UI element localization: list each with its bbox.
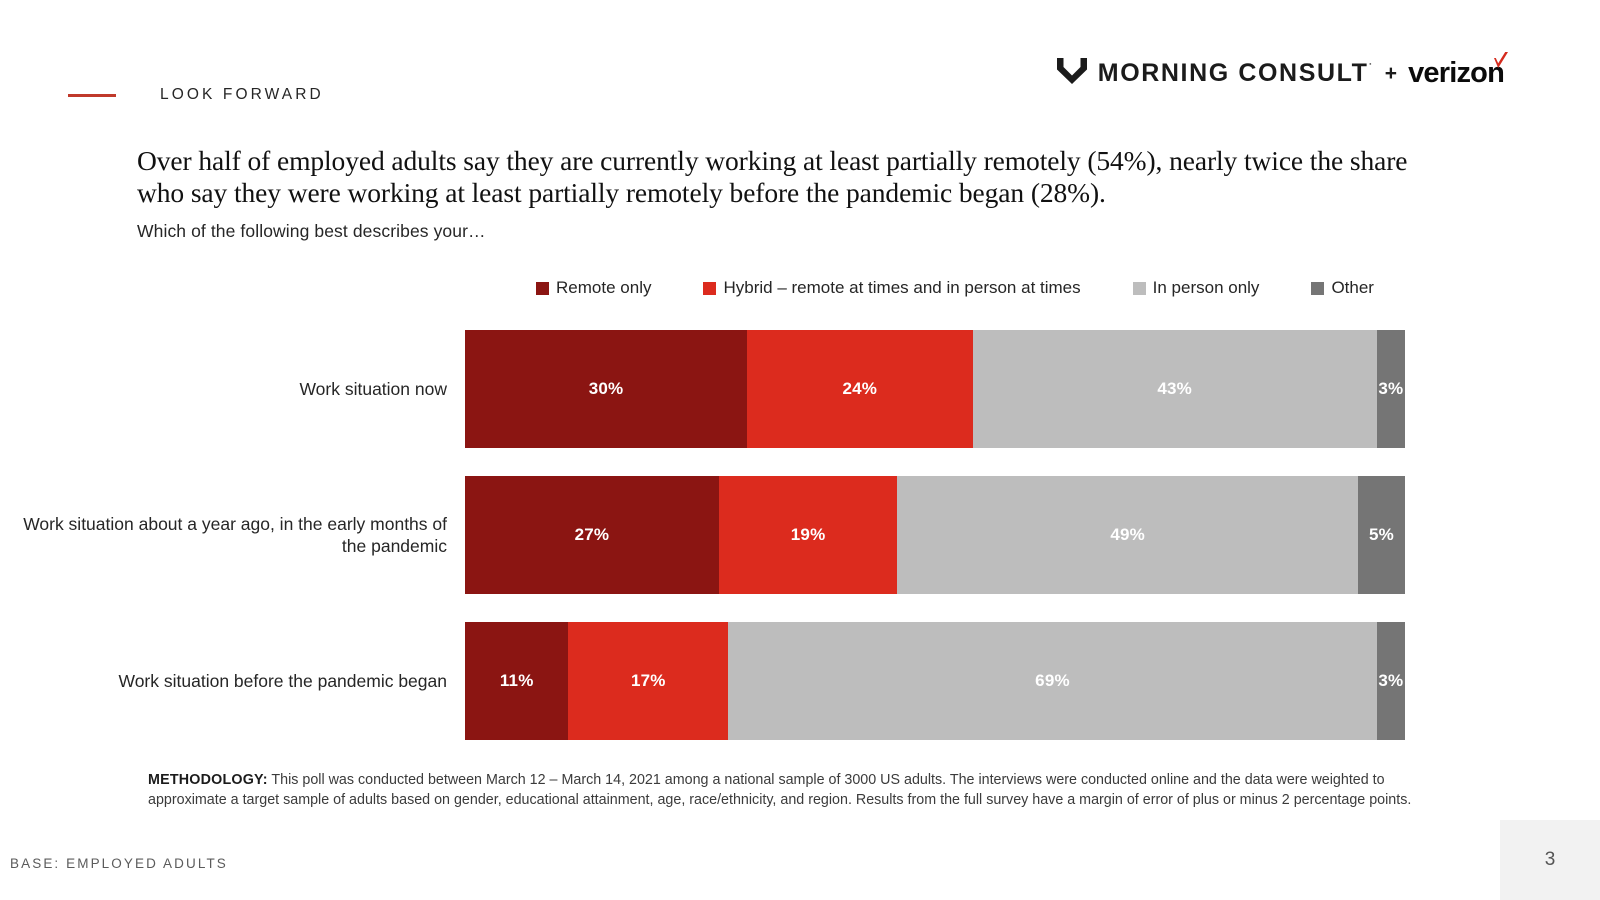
legend-item-remote-only[interactable]: Remote only [536, 278, 651, 298]
bar-segment-value: 24% [842, 379, 877, 399]
methodology-note: METHODOLOGY: This poll was conducted bet… [148, 770, 1423, 811]
chart-row: Work situation now30%24%43%3% [0, 330, 1600, 448]
bar-segment[interactable]: 27% [465, 476, 719, 594]
chart-legend: Remote only Hybrid – remote at times and… [480, 278, 1430, 298]
plus-separator: + [1385, 63, 1397, 84]
bar-segment[interactable]: 69% [728, 622, 1377, 740]
bar-segment-value: 49% [1110, 525, 1145, 545]
chart-row-bars: 30%24%43%3% [465, 330, 1405, 448]
legend-item-hybrid[interactable]: Hybrid – remote at times and in person a… [703, 278, 1080, 298]
legend-label: Remote only [556, 278, 651, 298]
stacked-bar-chart: Work situation now30%24%43%3%Work situat… [0, 330, 1600, 768]
bar-segment[interactable]: 17% [568, 622, 728, 740]
bar-segment-value: 69% [1035, 671, 1070, 691]
base-note: BASE: EMPLOYED ADULTS [10, 856, 228, 871]
bar-segment-value: 17% [631, 671, 666, 691]
eyebrow: LOOK FORWARD [68, 86, 324, 104]
chart-row: Work situation about a year ago, in the … [0, 476, 1600, 594]
chart-row: Work situation before the pandemic began… [0, 622, 1600, 740]
page-number: 3 [1545, 849, 1556, 871]
morning-consult-wordmark: MORNING CONSULT˙ [1098, 61, 1374, 86]
bar-segment-value: 11% [500, 671, 534, 691]
page-number-box: 3 [1500, 820, 1600, 900]
bar-segment[interactable]: 19% [719, 476, 898, 594]
verizon-check-icon [1492, 52, 1510, 77]
bar-segment-value: 3% [1378, 671, 1403, 691]
legend-swatch-icon [1311, 282, 1324, 295]
brand-bar: MORNING CONSULT˙ + verizon [1057, 58, 1504, 89]
chart-row-bars: 11%17%69%3% [465, 622, 1405, 740]
legend-label: In person only [1153, 278, 1260, 298]
verizon-wordmark: verizon [1408, 57, 1504, 89]
bar-segment-value: 5% [1369, 525, 1394, 545]
legend-item-other[interactable]: Other [1311, 278, 1374, 298]
page-title: Over half of employed adults say they ar… [137, 145, 1427, 209]
bar-segment[interactable]: 24% [747, 330, 973, 448]
legend-label: Other [1331, 278, 1374, 298]
bar-segment[interactable]: 11% [465, 622, 568, 740]
bar-segment[interactable]: 43% [973, 330, 1377, 448]
legend-swatch-icon [536, 282, 549, 295]
chart-row-label: Work situation before the pandemic began [0, 670, 465, 692]
bar-segment[interactable]: 3% [1377, 622, 1405, 740]
verizon-logo: verizon [1408, 59, 1504, 88]
bar-segment[interactable]: 30% [465, 330, 747, 448]
bar-segment-value: 27% [575, 525, 610, 545]
bar-segment-value: 19% [791, 525, 826, 545]
eyebrow-label: LOOK FORWARD [160, 86, 324, 104]
trademark-dot-icon: ˙ [1369, 63, 1374, 75]
bar-segment[interactable]: 3% [1377, 330, 1405, 448]
bar-segment-value: 3% [1378, 379, 1403, 399]
accent-rule-icon [68, 94, 116, 97]
chart-row-label: Work situation now [0, 378, 465, 400]
slide: LOOK FORWARD MORNING CONSULT˙ + verizon … [0, 0, 1600, 900]
legend-item-in-person-only[interactable]: In person only [1133, 278, 1260, 298]
chart-row-label: Work situation about a year ago, in the … [0, 513, 465, 558]
question-subtitle: Which of the following best describes yo… [137, 221, 486, 242]
legend-swatch-icon [703, 282, 716, 295]
bar-segment-value: 30% [589, 379, 624, 399]
legend-swatch-icon [1133, 282, 1146, 295]
chart-row-bars: 27%19%49%5% [465, 476, 1405, 594]
bar-segment-value: 43% [1157, 379, 1192, 399]
bar-segment[interactable]: 49% [897, 476, 1358, 594]
methodology-label: METHODOLOGY: [148, 772, 268, 788]
methodology-text: This poll was conducted between March 12… [148, 772, 1411, 808]
bar-segment[interactable]: 5% [1358, 476, 1405, 594]
legend-label: Hybrid – remote at times and in person a… [723, 278, 1080, 298]
morning-consult-logo-icon [1057, 58, 1087, 89]
